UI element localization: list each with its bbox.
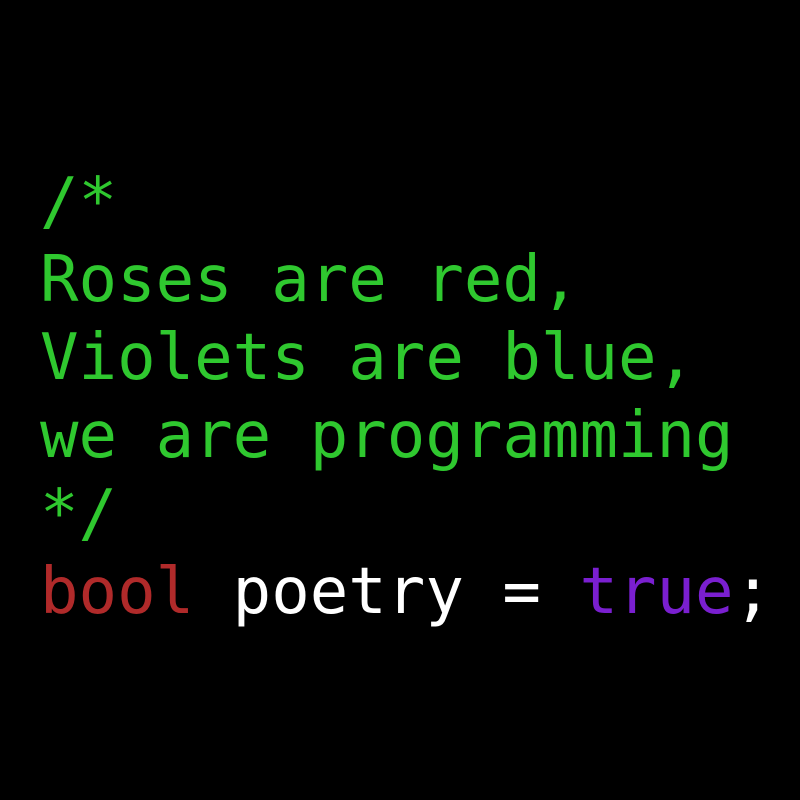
code-block: /*Roses are red,Violets are blue,we are …	[40, 163, 800, 631]
code-line[interactable]: Violets are blue,	[40, 319, 800, 397]
code-line[interactable]: /*	[40, 163, 800, 241]
code-line[interactable]: */	[40, 475, 800, 553]
code-token-punctuation: ;	[734, 555, 773, 629]
code-line[interactable]: Roses are red,	[40, 241, 800, 319]
code-token-operator: =	[502, 555, 541, 629]
code-token-literal: true	[579, 555, 733, 629]
code-line[interactable]: bool poetry = true;	[40, 553, 800, 631]
code-token-whitespace	[464, 555, 503, 629]
code-token-whitespace	[541, 555, 580, 629]
code-token-comment: */	[40, 477, 117, 551]
code-token-keyword: bool	[40, 555, 194, 629]
code-token-comment: Violets are blue,	[40, 321, 695, 395]
code-line[interactable]: we are programming	[40, 397, 800, 475]
code-token-comment: we are programming	[40, 399, 734, 473]
code-token-comment: Roses are red,	[40, 243, 579, 317]
code-token-comment: /*	[40, 165, 117, 239]
code-token-whitespace	[194, 555, 233, 629]
code-token-identifier: poetry	[233, 555, 464, 629]
code-poetry-canvas: /*Roses are red,Violets are blue,we are …	[0, 0, 800, 800]
